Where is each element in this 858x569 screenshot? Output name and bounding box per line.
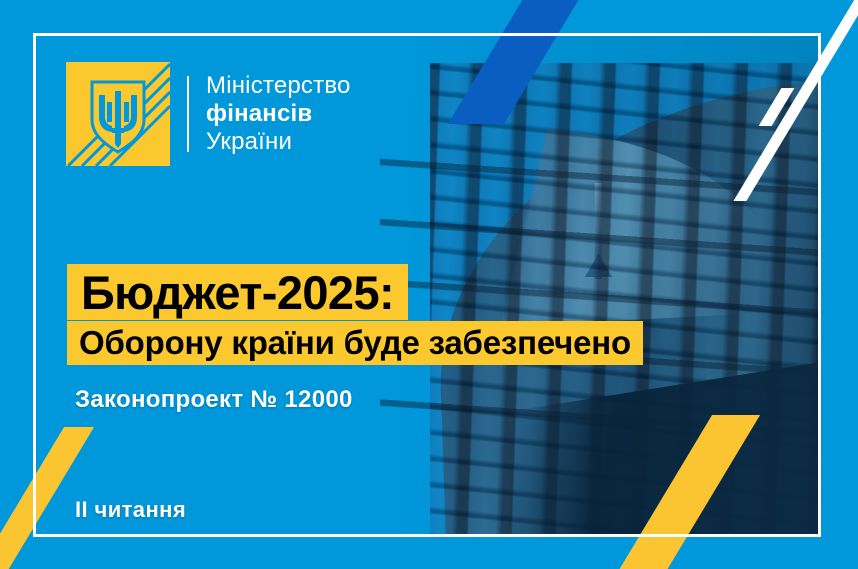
logo-line-3: України: [206, 128, 351, 156]
reading-stage-text: II читання: [75, 497, 186, 523]
logo-line-2: фінансів: [206, 100, 351, 128]
headline-line-2: Оборону країни буде забезпечено: [67, 321, 643, 365]
bill-number-text: Законопроект № 12000: [75, 386, 353, 414]
logo-divider: [187, 76, 189, 152]
logo-line-1: Міністерство: [206, 72, 351, 100]
headline-line-1: Бюджет-2025:: [67, 264, 408, 320]
ministry-logo: Міністерство фінансів України: [66, 62, 351, 166]
ukraine-trident-emblem-icon: [66, 62, 170, 166]
logo-wordmark: Міністерство фінансів України: [206, 72, 351, 155]
budget-2025-poster: Міністерство фінансів України Бюджет-202…: [0, 0, 858, 569]
